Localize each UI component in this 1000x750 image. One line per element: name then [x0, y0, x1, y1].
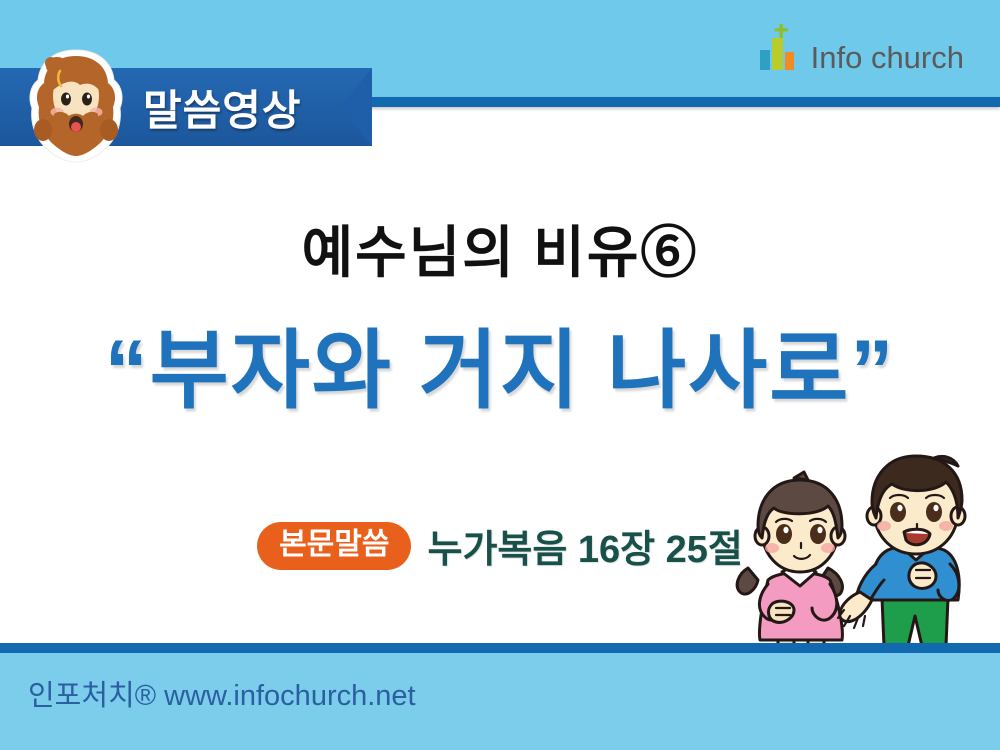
footer-divider-rule — [0, 643, 1000, 653]
brand-logo[interactable]: Info church — [758, 22, 964, 75]
section-ribbon-label: 말씀영상 — [143, 70, 343, 144]
brand-name-text: Info church — [811, 42, 964, 73]
scripture-reference: 누가복음 16장 25절 — [427, 518, 742, 573]
page-subtitle: “부자와 거지 나사로” — [0, 300, 1000, 425]
infochurch-bar-chart-cross-logo-icon — [758, 22, 804, 75]
bearded-man-avatar-icon — [24, 46, 128, 164]
footer-website-text: 인포처치® www.infochurch.net — [28, 672, 416, 714]
slide-canvas: 말씀영상 — [0, 0, 1000, 750]
page-title: 예수님의 비유⑥ — [0, 208, 1000, 289]
scripture-badge: 본문말씀 — [257, 522, 411, 570]
